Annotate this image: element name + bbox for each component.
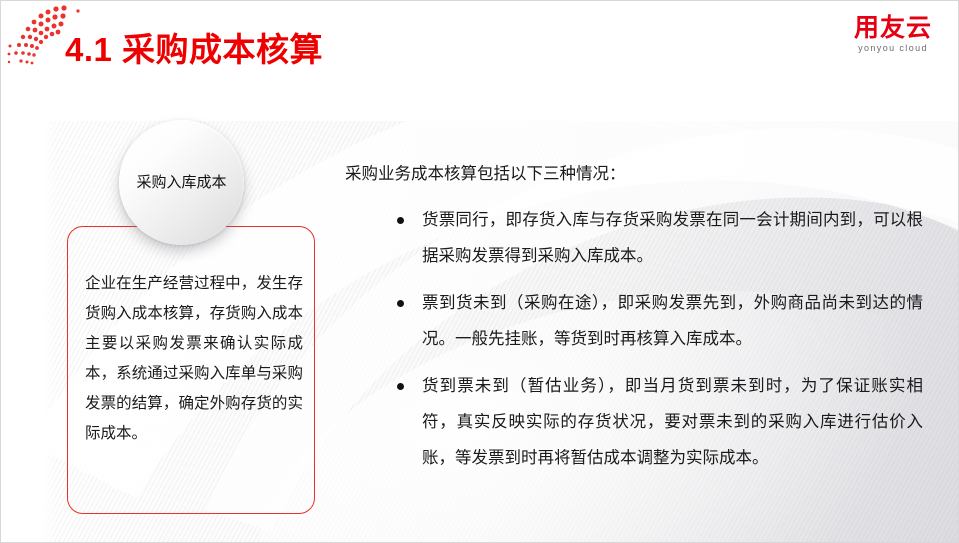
bullet-list: 货票同行，即存货入库与存货采购发票在同一会计期间内到，可以根据采购发票得到采购入… (393, 202, 923, 487)
slide-canvas: 4.1 采购成本核算 用友云 yonyou cloud 采购入库成本 企业在生产… (0, 0, 959, 543)
left-card-text: 企业在生产经营过程中，发生存货购入成本核算，存货购入成本主要以采购发票来确认实际… (85, 269, 303, 449)
page-title: 4.1 采购成本核算 (65, 23, 323, 71)
circle-badge: 采购入库成本 (119, 120, 244, 245)
logo-text-cn: 用友云 (847, 15, 939, 41)
brand-logo: 用友云 yonyou cloud (847, 15, 939, 53)
list-item: 票到货未到（采购在途），即采购发票先到，外购商品尚未到达的情况。一般先挂账，等货… (393, 285, 923, 357)
list-item-text: 货票同行，即存货入库与存货采购发票在同一会计期间内到，可以根据采购发票得到采购入… (422, 211, 923, 265)
logo-text-en: yonyou cloud (847, 43, 939, 53)
list-item: 货票同行，即存货入库与存货采购发票在同一会计期间内到，可以根据采购发票得到采购入… (393, 202, 923, 274)
bullet-dot-icon (397, 383, 404, 390)
list-item-text: 货到票未到（暂估业务），即当月货到票未到时，为了保证账实相符，真实反映实际的存货… (422, 377, 923, 467)
bullet-dot-icon (397, 300, 404, 307)
content-intro-text: 采购业务成本核算包括以下三种情况： (345, 161, 626, 187)
bullet-dot-icon (397, 217, 404, 224)
background-left-band (1, 1, 59, 542)
circle-badge-label: 采购入库成本 (134, 171, 230, 194)
list-item-text: 票到货未到（采购在途），即采购发票先到，外购商品尚未到达的情况。一般先挂账，等货… (422, 294, 923, 348)
list-item: 货到票未到（暂估业务），即当月货到票未到时，为了保证账实相符，真实反映实际的存货… (393, 368, 923, 476)
